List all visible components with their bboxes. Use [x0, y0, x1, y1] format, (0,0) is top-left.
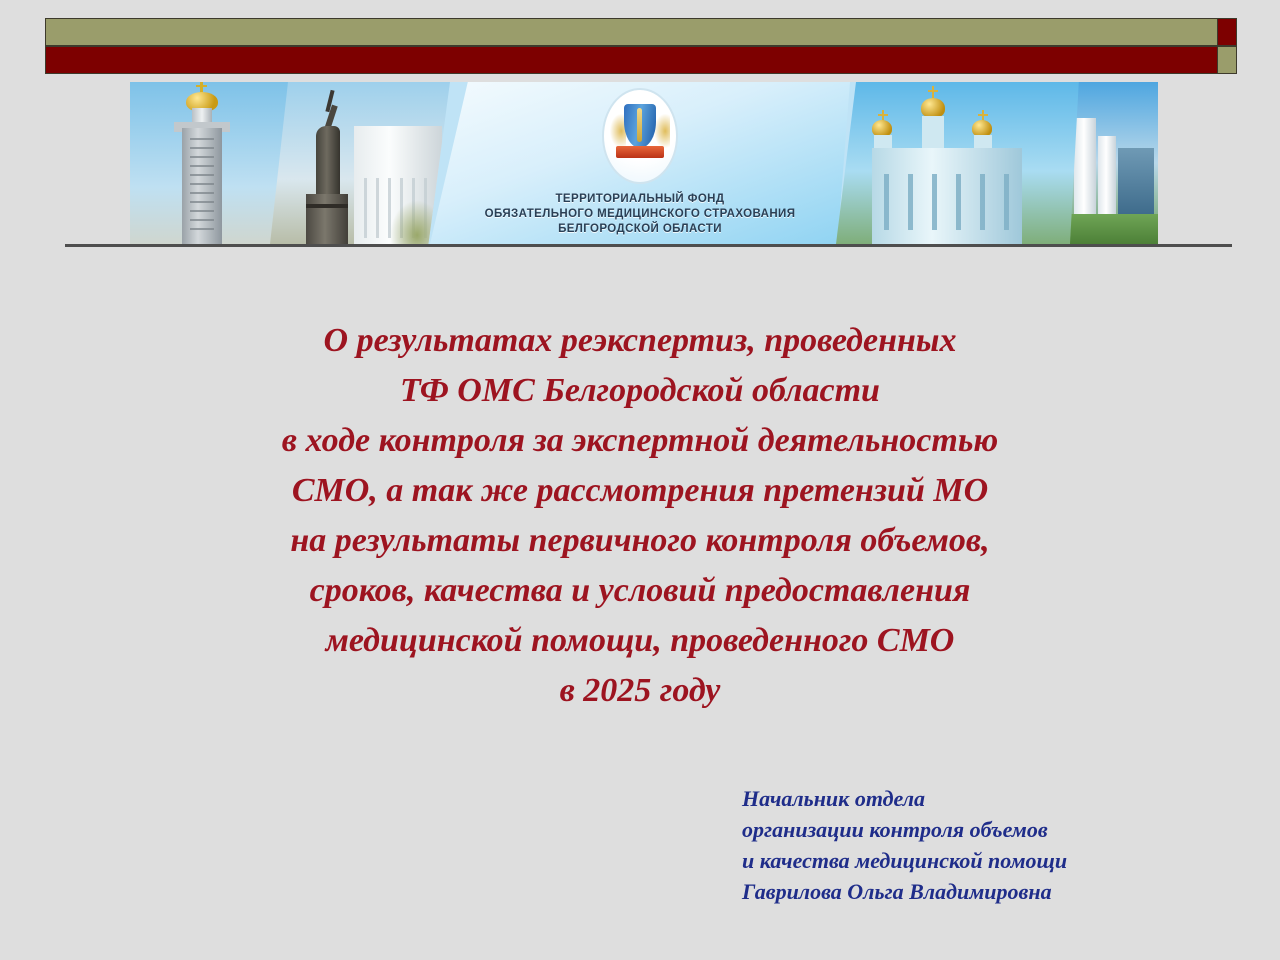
- banner-panel-city: [1070, 82, 1158, 244]
- title-line-1: О результатах реэкспертиз, проведенных: [140, 316, 1140, 366]
- city-building-2: [1098, 136, 1116, 214]
- title-line-5: на результаты первичного контроля объемо…: [140, 516, 1140, 566]
- emblem-laurel-right: [654, 114, 670, 148]
- decorative-bar-maroon-long: [45, 46, 1218, 74]
- emblem-ribbon: [616, 146, 664, 158]
- title-line-4: СМО, а так же рассмотрения претензий МО: [140, 466, 1140, 516]
- decorative-bar-olive-long: [45, 18, 1218, 46]
- tfoms-emblem-icon: [602, 88, 678, 184]
- banner-caption: ТЕРРИТОРИАЛЬНЫЙ ФОНД ОБЯЗАТЕЛЬНОГО МЕДИЦ…: [430, 192, 850, 237]
- decorative-bar-row-bottom: [45, 46, 1237, 74]
- city-glass-building: [1118, 148, 1154, 214]
- monument-statue-figure: [316, 126, 340, 196]
- banner-panel-cathedral: [836, 82, 1086, 244]
- presenter-signature: Начальник отдела организации контроля об…: [742, 783, 1067, 907]
- signature-line-2: организации контроля объемов: [742, 814, 1067, 845]
- signature-line-4: Гаврилова Ольга Владимировна: [742, 876, 1067, 907]
- signature-line-1: Начальник отдела: [742, 783, 1067, 814]
- decorative-bar-row-top: [45, 18, 1237, 46]
- cathedral-drum-main: [922, 116, 944, 150]
- banner-caption-line-1: ТЕРРИТОРИАЛЬНЫЙ ФОНД: [430, 192, 850, 207]
- title-line-3: в ходе контроля за экспертной деятельнос…: [140, 416, 1140, 466]
- banner-caption-line-2: ОБЯЗАТЕЛЬНОГО МЕДИЦИНСКОГО СТРАХОВАНИЯ: [430, 207, 850, 222]
- banner-panel-logo: ТЕРРИТОРИАЛЬНЫЙ ФОНД ОБЯЗАТЕЛЬНОГО МЕДИЦ…: [430, 82, 850, 244]
- header-divider-rule: [65, 244, 1232, 247]
- title-line-6: сроков, качества и условий предоставлени…: [140, 566, 1140, 616]
- decorative-bar-olive-square: [1217, 46, 1237, 74]
- cathedral-dome-main: [921, 98, 945, 118]
- decorative-bar-maroon-square: [1217, 18, 1237, 46]
- organization-banner-image: ТЕРРИТОРИАЛЬНЫЙ ФОНД ОБЯЗАТЕЛЬНОГО МЕДИЦ…: [130, 82, 1158, 244]
- banner-caption-line-3: БЕЛГОРОДСКОЙ ОБЛАСТИ: [430, 222, 850, 237]
- title-line-7: медицинской помощи, проведенного СМО: [140, 616, 1140, 666]
- bell-tower-shaft: [182, 128, 222, 244]
- decorative-header-bars: [45, 18, 1237, 74]
- signature-line-3: и качества медицинской помощи: [742, 845, 1067, 876]
- cathedral-body: [872, 148, 1022, 244]
- banner-panel-monument: [270, 82, 450, 244]
- monument-pedestal: [306, 194, 348, 244]
- city-building-1: [1074, 118, 1096, 214]
- city-lawn: [1070, 214, 1158, 244]
- slide-title: О результатах реэкспертиз, проведенных Т…: [140, 316, 1140, 716]
- title-line-8: в 2025 году: [140, 666, 1140, 716]
- banner-panel-bell-tower: [130, 82, 290, 244]
- title-line-2: ТФ ОМС Белгородской области: [140, 366, 1140, 416]
